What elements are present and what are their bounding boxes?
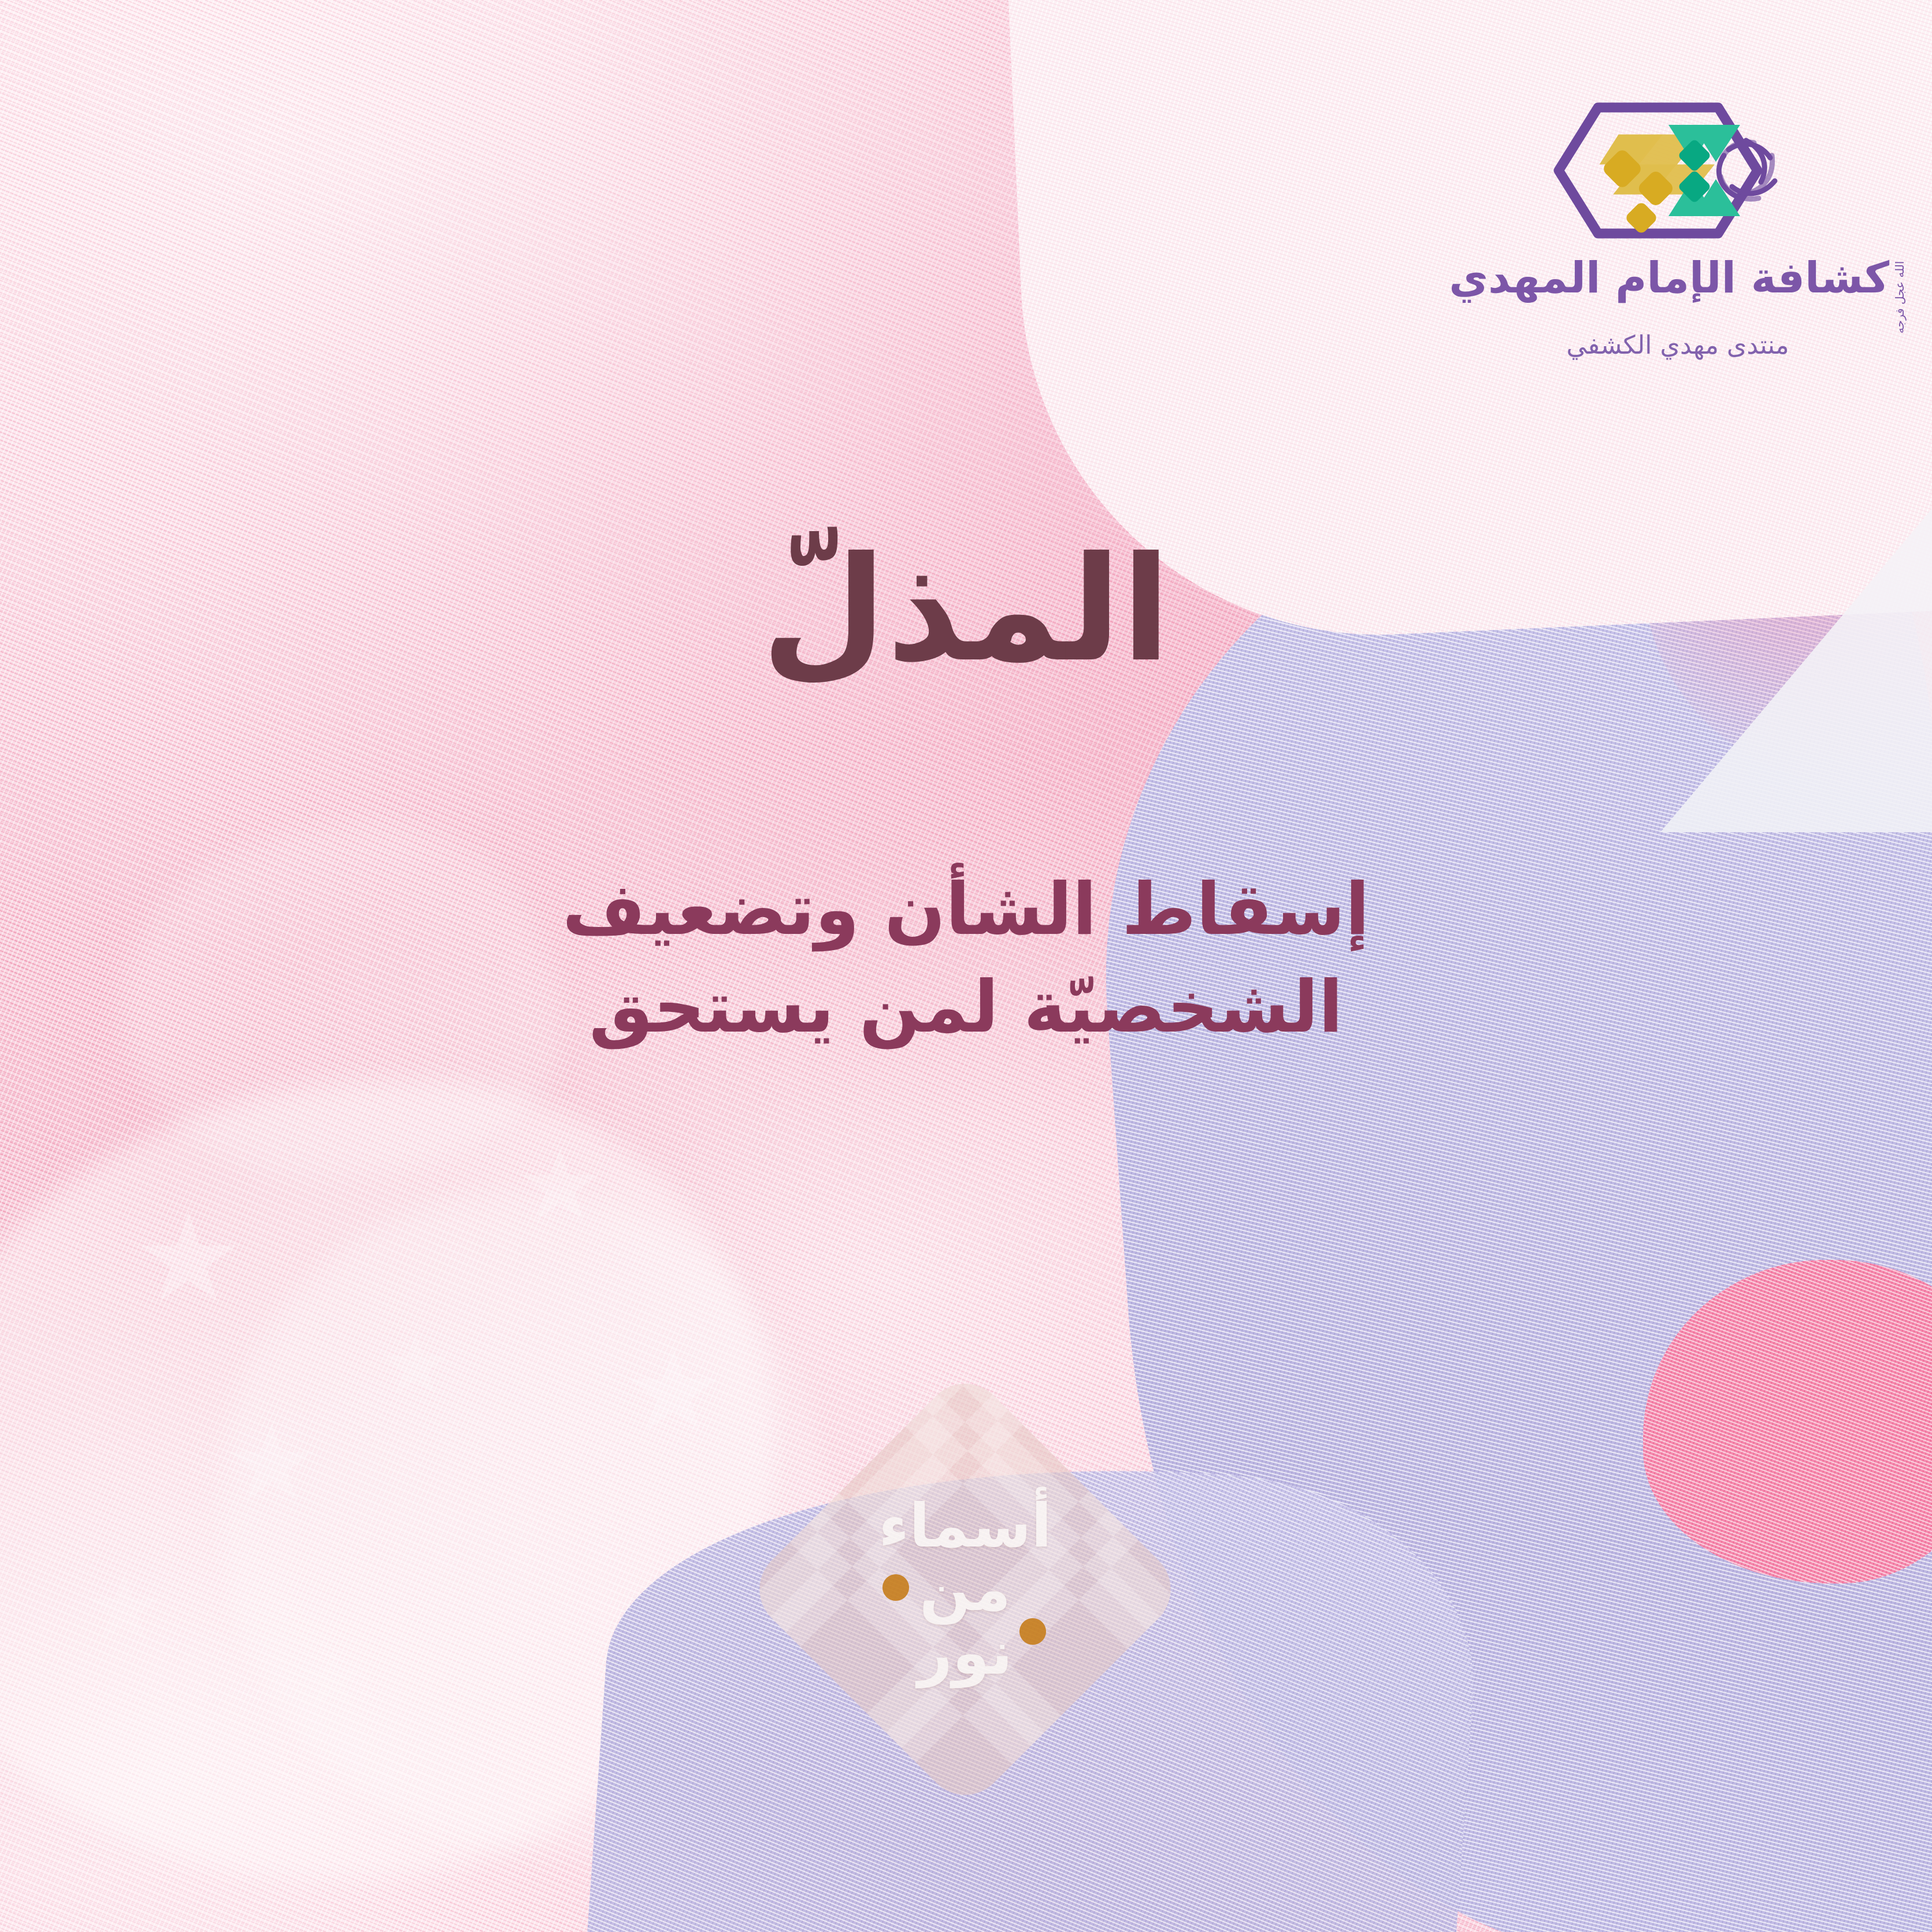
- brand-name-row: كشافة الإمام المهدي الله عجل فرجه: [1493, 258, 1863, 317]
- badge-text-group: أسماء من نور: [763, 1387, 1167, 1792]
- brand-subtitle: منتدى مهدي الكشفي: [1493, 331, 1863, 360]
- badge-line-3: نور: [918, 1623, 1013, 1683]
- brand-block: كشافة الإمام المهدي الله عجل فرجه منتدى …: [1493, 98, 1863, 360]
- badge-dot-left-icon: [882, 1574, 909, 1601]
- series-watermark-badge: أسماء من نور: [763, 1387, 1167, 1792]
- badge-line-2: من: [919, 1559, 1011, 1619]
- pink-blob-fill: [1643, 1260, 1932, 1584]
- brand-name: كشافة الإمام المهدي: [1449, 258, 1889, 298]
- badge-line-3-text: نور: [918, 1618, 1013, 1688]
- subtitle-block: إسقاط الشأن وتضعيف الشخصيّة لمن يستحق: [191, 861, 1741, 1056]
- poster-canvas: كشافة الإمام المهدي الله عجل فرجه منتدى …: [0, 0, 1932, 1932]
- brand-honorific: الله عجل فرجه: [1894, 261, 1907, 317]
- badge-line-2-text: من: [919, 1554, 1011, 1625]
- hexagon-kashafa-logo-icon: [1545, 98, 1811, 243]
- badge-dot-right-icon: [1019, 1618, 1046, 1645]
- badge-line-1: أسماء: [878, 1496, 1052, 1556]
- subtitle-line-2: الشخصيّة لمن يستحق: [191, 959, 1741, 1056]
- page-title: المذلّ: [0, 537, 1932, 682]
- subtitle-line-1: إسقاط الشأن وتضعيف: [191, 861, 1741, 959]
- pink-blob-right: [1643, 1260, 1932, 1584]
- headline-block: المذلّ: [0, 537, 1932, 682]
